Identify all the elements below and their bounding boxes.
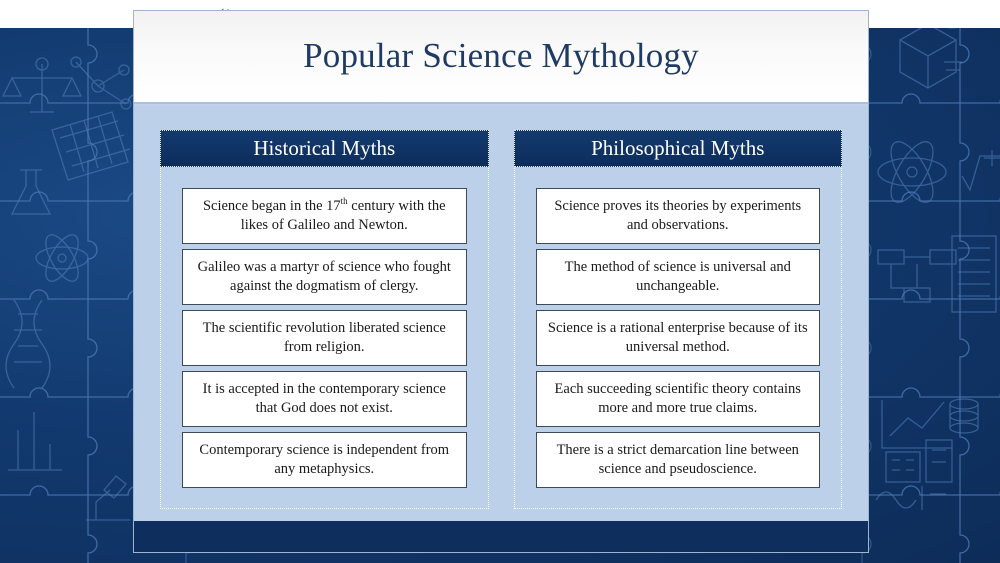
myth-text: Science is a rational enterprise because… [546, 319, 811, 357]
myth-text: Science proves its theories by experimen… [546, 197, 811, 235]
slide-title: Popular Science Mythology [134, 36, 868, 76]
column-header-historical: Historical Myths [160, 130, 489, 167]
myth-box: Galileo was a martyr of science who foug… [182, 249, 467, 305]
column-items-historical: Science began in the 17th century with t… [161, 167, 488, 508]
myth-text: Galileo was a martyr of science who foug… [192, 258, 457, 296]
myth-text: The scientific revolution liberated scie… [192, 319, 457, 357]
column-header-label: Philosophical Myths [591, 136, 764, 161]
column-header-label: Historical Myths [253, 136, 395, 161]
myth-box: The method of science is universal and u… [536, 249, 821, 305]
myth-text: The method of science is universal and u… [546, 258, 811, 296]
slide-footer-bar [134, 521, 868, 552]
myth-box: It is accepted in the contemporary scien… [182, 371, 467, 427]
slide-viewer: Popular Science Mythology Historical Myt… [0, 0, 1000, 563]
slide-title-band: Popular Science Mythology [134, 11, 868, 104]
myth-box: There is a strict demarcation line betwe… [536, 432, 821, 488]
myth-box: Each succeeding scientific theory contai… [536, 371, 821, 427]
column-items-philosophical: Science proves its theories by experimen… [515, 167, 842, 508]
myth-box: The scientific revolution liberated scie… [182, 310, 467, 366]
slide-body: Historical Myths Science began in the 17… [134, 106, 868, 531]
myth-text-pre: Science began in the 17 [203, 198, 341, 214]
column-philosophical-myths: Philosophical Myths Science proves its t… [514, 130, 843, 509]
myth-box: Science began in the 17th century with t… [182, 188, 467, 244]
myth-columns: Historical Myths Science began in the 17… [134, 106, 868, 531]
myth-text-sup: th [341, 196, 348, 206]
column-header-philosophical: Philosophical Myths [514, 130, 843, 167]
myth-box: Science proves its theories by experimen… [536, 188, 821, 244]
myth-text: There is a strict demarcation line betwe… [546, 441, 811, 479]
myth-text: Each succeeding scientific theory contai… [546, 380, 811, 418]
column-historical-myths: Historical Myths Science began in the 17… [160, 130, 489, 509]
myth-text: Contemporary science is independent from… [192, 441, 457, 479]
myth-box: Science is a rational enterprise because… [536, 310, 821, 366]
presentation-slide: Popular Science Mythology Historical Myt… [134, 11, 868, 552]
myth-box: Contemporary science is independent from… [182, 432, 467, 488]
myth-text: It is accepted in the contemporary scien… [192, 380, 457, 418]
